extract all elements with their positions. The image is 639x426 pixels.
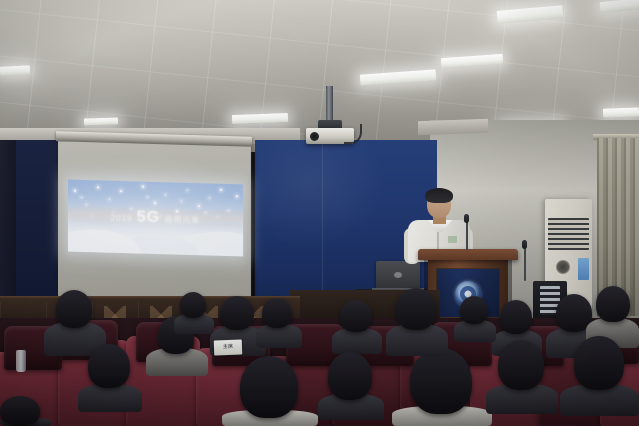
laptop-lid-logo — [394, 272, 402, 278]
ceiling-light-5 — [0, 65, 30, 76]
star-15 — [236, 195, 238, 197]
star-23 — [147, 197, 148, 198]
floor-microphone — [522, 240, 527, 249]
audience-member-shoulders — [78, 384, 142, 412]
audience-member-head — [0, 396, 40, 426]
wainscot-trim — [0, 296, 300, 299]
audience-member-head — [498, 340, 544, 390]
speaker-shirt-pocket — [448, 236, 457, 243]
audience-member-head — [328, 352, 372, 400]
audience-member-head — [180, 292, 206, 318]
slide-subtitle-text: 商用元年 — [164, 216, 200, 226]
audience-member-head — [340, 300, 372, 332]
audience-member-head — [396, 288, 436, 330]
star-0 — [74, 190, 76, 192]
air-conditioner-display — [578, 258, 589, 280]
presentation-slide: 2019 5G 商用元年 — [68, 180, 243, 257]
water-bottle — [16, 350, 26, 372]
audience-member-head — [460, 296, 488, 324]
star-11 — [198, 205, 200, 207]
star-10 — [187, 190, 188, 191]
seat-nameplate: 主席 — [214, 340, 243, 356]
star-12 — [209, 197, 210, 198]
audience-member-head — [410, 348, 472, 414]
star-21 — [81, 197, 82, 198]
projector-lens — [310, 132, 319, 141]
audience-member-head — [240, 356, 298, 418]
audience-member-head — [220, 296, 254, 330]
star-8 — [165, 194, 166, 195]
floor-microphone-stem — [524, 247, 526, 281]
audience-member-head — [574, 336, 624, 390]
podium-microphone-stem — [466, 221, 468, 251]
star-24 — [181, 201, 182, 202]
star-6 — [142, 186, 144, 188]
slide-main-text: 5G — [137, 209, 160, 227]
air-conditioner-dial — [556, 260, 570, 274]
star-4 — [120, 190, 122, 192]
audience-member-head — [500, 300, 532, 334]
lecture-hall-photo: 2019 5G 商用元年 — [0, 0, 639, 426]
star-1 — [86, 204, 87, 205]
ceiling-light-8 — [603, 107, 639, 117]
glasses-icon — [428, 201, 450, 206]
audience-member-head — [596, 286, 630, 322]
star-13 — [220, 189, 222, 191]
star-3 — [109, 199, 110, 200]
audience-member-head — [262, 298, 292, 328]
projector-mount-pole — [326, 86, 333, 124]
star-7 — [154, 202, 156, 204]
ceiling-light-9 — [84, 117, 118, 125]
lectern-top — [418, 249, 518, 260]
slide-year-text: 2019 — [111, 214, 133, 224]
audience-member-head — [88, 344, 130, 388]
audience-member-head — [56, 290, 92, 328]
air-conditioner-vents — [548, 218, 589, 250]
ceiling-soffit-right — [418, 119, 488, 135]
podium-microphone — [464, 214, 469, 223]
star-2 — [97, 186, 99, 188]
